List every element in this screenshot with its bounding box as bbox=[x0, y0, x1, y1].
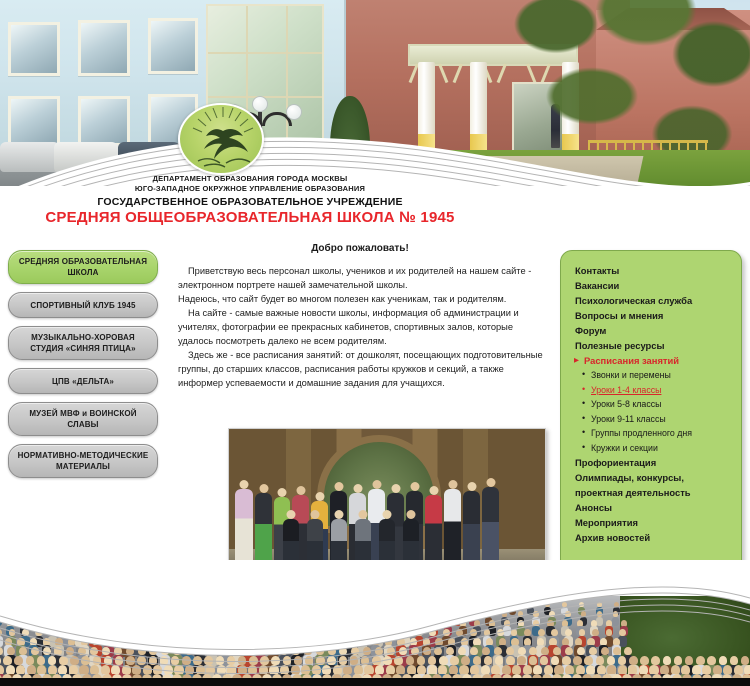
sidebar-button-label: ЦПВ «ДЕЛЬТА» bbox=[52, 376, 114, 387]
sidebar-button-label: СРЕДНЯЯ ОБРАЗОВАТЕЛЬНАЯ ШКОЛА bbox=[17, 256, 149, 278]
menu-item-2[interactable]: Психологическая служба bbox=[575, 293, 731, 308]
menu-item-6[interactable]: Расписания занятий bbox=[575, 353, 731, 368]
menu-item-10[interactable]: Уроки 9-11 классы bbox=[575, 412, 731, 427]
sidebar-button-label: СПОРТИВНЫЙ КЛУБ 1945 bbox=[30, 300, 135, 311]
left-sidebar-nav: СРЕДНЯЯ ОБРАЗОВАТЕЛЬНАЯ ШКОЛАСПОРТИВНЫЙ … bbox=[8, 250, 158, 486]
footer-black-bar bbox=[0, 678, 750, 686]
body-paragraph-1: Надеюсь, что сайт будет во многом полезе… bbox=[178, 292, 544, 306]
right-sidebar-menu: КонтактыВакансииПсихологическая службаВо… bbox=[560, 250, 742, 580]
sidebar-button-5[interactable]: НОРМАТИВНО-МЕТОДИЧЕСКИЕ МАТЕРИАЛЫ bbox=[8, 444, 158, 478]
menu-item-8[interactable]: Уроки 1-4 классы bbox=[575, 383, 731, 398]
menu-item-13[interactable]: Профориентация bbox=[575, 455, 731, 470]
menu-item-0[interactable]: Контакты bbox=[575, 263, 731, 278]
sidebar-button-2[interactable]: МУЗЫКАЛЬНО-ХОРОВАЯ СТУДИЯ «СИНЯЯ ПТИЦА» bbox=[8, 326, 158, 360]
body-paragraph-3: Здесь же - все расписания занятий: от до… bbox=[178, 348, 544, 390]
lamp-globe-center bbox=[252, 96, 268, 112]
sidebar-button-4[interactable]: МУЗЕЙ МВФ и ВОИНСКОЙ СЛАВЫ bbox=[8, 402, 158, 436]
students-group bbox=[229, 473, 545, 565]
sidebar-button-label: НОРМАТИВНО-МЕТОДИЧЕСКИЕ МАТЕРИАЛЫ bbox=[17, 450, 149, 472]
menu-item-3[interactable]: Вопросы и мнения bbox=[575, 308, 731, 323]
footer-crowd-photo bbox=[0, 596, 750, 682]
menu-item-11[interactable]: Группы продленного дня bbox=[575, 426, 731, 441]
sidebar-button-label: МУЗЫКАЛЬНО-ХОРОВАЯ СТУДИЯ «СИНЯЯ ПТИЦА» bbox=[17, 332, 149, 354]
header-banner-photo bbox=[0, 0, 750, 186]
menu-item-15[interactable]: Анонсы bbox=[575, 500, 731, 515]
parked-cars bbox=[0, 118, 340, 176]
menu-item-1[interactable]: Вакансии bbox=[575, 278, 731, 293]
group-photo bbox=[228, 428, 546, 566]
school-emblem-icon bbox=[178, 103, 264, 175]
menu-item-5[interactable]: Полезные ресурсы bbox=[575, 338, 731, 353]
body-paragraph-2: На сайте - самые важные новости школы, и… bbox=[178, 306, 544, 348]
department-heading: ДЕПАРТАМЕНТ ОБРАЗОВАНИЯ ГОРОДА МОСКВЫ ЮГ… bbox=[0, 174, 500, 193]
page-root: ДЕПАРТАМЕНТ ОБРАЗОВАНИЯ ГОРОДА МОСКВЫ ЮГ… bbox=[0, 0, 750, 686]
menu-item-4[interactable]: Форум bbox=[575, 323, 731, 338]
welcome-body-text: Приветствую весь персонал школы, ученико… bbox=[178, 264, 544, 390]
sidebar-button-3[interactable]: ЦПВ «ДЕЛЬТА» bbox=[8, 368, 158, 394]
department-line-1: ДЕПАРТАМЕНТ ОБРАЗОВАНИЯ ГОРОДА МОСКВЫ bbox=[0, 174, 500, 184]
body-paragraph-0: Приветствую весь персонал школы, ученико… bbox=[178, 264, 544, 292]
menu-item-12[interactable]: Кружки и секции bbox=[575, 441, 731, 456]
department-line-2: ЮГО-ЗАПАДНОЕ ОКРУЖНОЕ УПРАВЛЕНИЕ ОБРАЗОВ… bbox=[0, 184, 500, 194]
sidebar-button-label: МУЗЕЙ МВФ и ВОИНСКОЙ СЛАВЫ bbox=[17, 408, 149, 430]
menu-item-17[interactable]: Архив новостей bbox=[575, 530, 731, 545]
page-title: СРЕДНЯЯ ОБЩЕОБРАЗОВАТЕЛЬНАЯ ШКОЛА № 1945 bbox=[0, 209, 500, 226]
menu-item-14[interactable]: Олимпиады, конкурсы, проектная деятельно… bbox=[575, 470, 731, 500]
sidebar-button-0[interactable]: СРЕДНЯЯ ОБРАЗОВАТЕЛЬНАЯ ШКОЛА bbox=[8, 250, 158, 284]
sidebar-button-1[interactable]: СПОРТИВНЫЙ КЛУБ 1945 bbox=[8, 292, 158, 318]
menu-item-16[interactable]: Мероприятия bbox=[575, 515, 731, 530]
menu-item-7[interactable]: Звонки и перемены bbox=[575, 368, 731, 383]
institution-type-heading: ГОСУДАРСТВЕННОЕ ОБРАЗОВАТЕЛЬНОЕ УЧРЕЖДЕН… bbox=[0, 196, 500, 208]
welcome-heading: Добро пожаловать! bbox=[175, 243, 545, 254]
menu-item-9[interactable]: Уроки 5-8 классы bbox=[575, 397, 731, 412]
